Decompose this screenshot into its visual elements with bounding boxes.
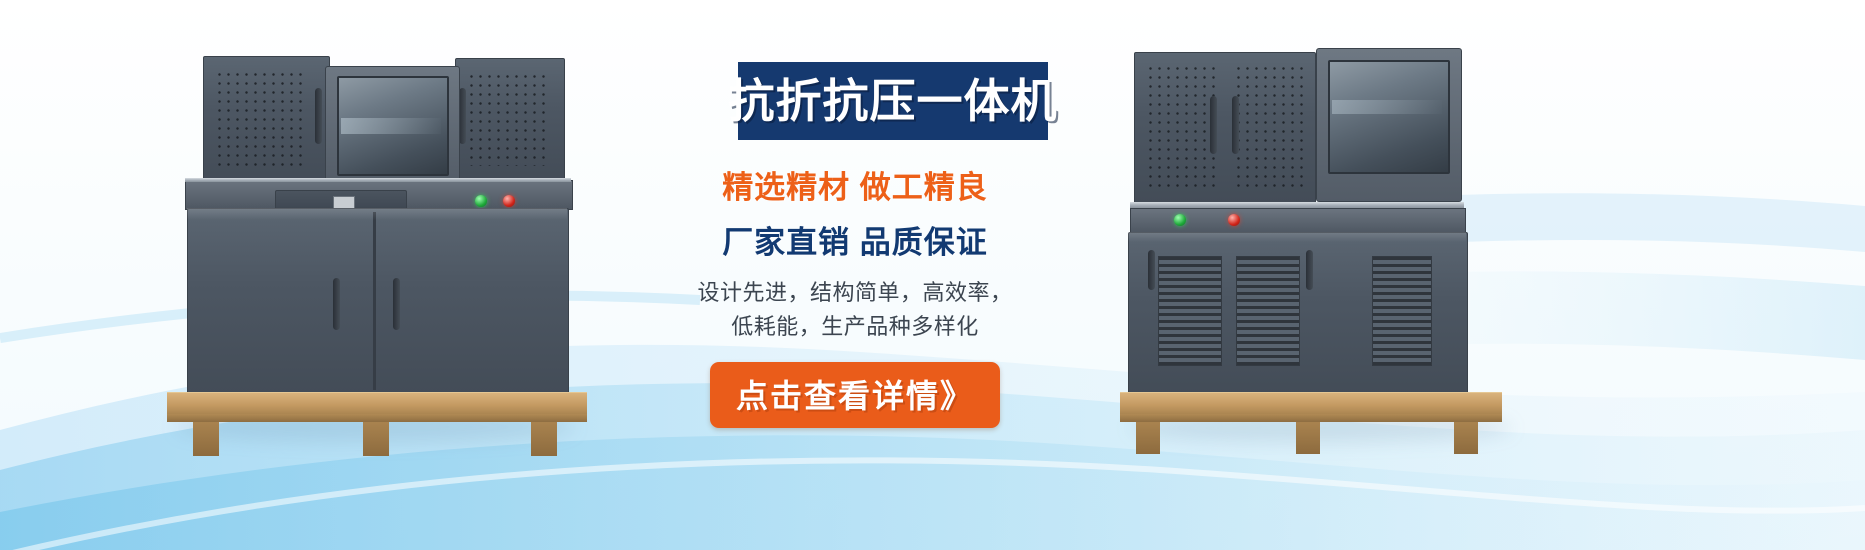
cta-container: 点击查看详情》 (620, 362, 1090, 428)
right-handle-b (1232, 96, 1239, 154)
right-pallet-mid (1120, 414, 1502, 422)
left-pallet-leg-c (531, 422, 557, 456)
right-perforation-a (1144, 62, 1216, 188)
left-pallet-leg-a (193, 422, 219, 456)
left-body-divider (373, 212, 376, 390)
description-line-2: 低耗能，生产品种多样化 (620, 310, 1090, 344)
right-pallet-leg-b (1296, 422, 1320, 454)
right-door-handle-a (1148, 250, 1155, 290)
right-body-highlight (1128, 232, 1466, 242)
left-shelf-trim (185, 178, 571, 182)
tagline-primary: 精选精材 做工精良 (620, 162, 1090, 207)
right-screen-display (1328, 60, 1450, 174)
left-door-handle-right (393, 278, 400, 330)
right-pallet-top (1120, 392, 1502, 415)
right-perforation-b (1232, 62, 1304, 188)
right-handle-a (1210, 96, 1217, 154)
right-vent-left (1158, 256, 1222, 366)
product-image-right (1120, 38, 1520, 450)
right-screen-reflection (1332, 100, 1442, 114)
headline-title: 抗折抗压一体机 (729, 78, 1058, 124)
right-door-handle-b (1306, 250, 1313, 290)
left-screen-reflection (341, 118, 441, 134)
left-door-handle-left (333, 278, 340, 330)
tagline-secondary: 厂家直销 品质保证 (620, 217, 1090, 262)
right-pallet-leg-c (1454, 422, 1478, 454)
right-vent-right (1372, 256, 1432, 366)
view-details-button[interactable]: 点击查看详情》 (710, 362, 1000, 428)
left-perforation-a (213, 68, 307, 166)
description-block: 设计先进，结构简单，高效率， 低耗能，生产品种多样化 (620, 276, 1090, 344)
left-body-highlight (187, 208, 567, 220)
left-pallet-mid (167, 414, 587, 422)
left-indicator-red (503, 195, 515, 207)
right-indicator-red (1228, 214, 1240, 226)
product-image-left (165, 40, 585, 450)
left-handle-b (459, 88, 466, 144)
left-indicator-green (475, 195, 487, 207)
left-pallet-top (167, 392, 587, 415)
left-handle-a (315, 88, 322, 144)
left-main-body (187, 208, 569, 396)
promo-banner: 抗折抗压一体机 精选精材 做工精良 厂家直销 品质保证 设计先进，结构简单，高效… (0, 0, 1865, 550)
right-indicator-green (1174, 214, 1186, 226)
right-pallet-leg-a (1136, 422, 1160, 454)
left-perforation-b (465, 70, 551, 166)
promo-text-block: 抗折抗压一体机 精选精材 做工精良 厂家直销 品质保证 设计先进，结构简单，高效… (620, 62, 1090, 428)
left-pallet-leg-b (363, 422, 389, 456)
right-vent-mid (1236, 256, 1300, 366)
description-line-1: 设计先进，结构简单，高效率， (620, 276, 1090, 310)
headline-band: 抗折抗压一体机 (738, 62, 1048, 140)
